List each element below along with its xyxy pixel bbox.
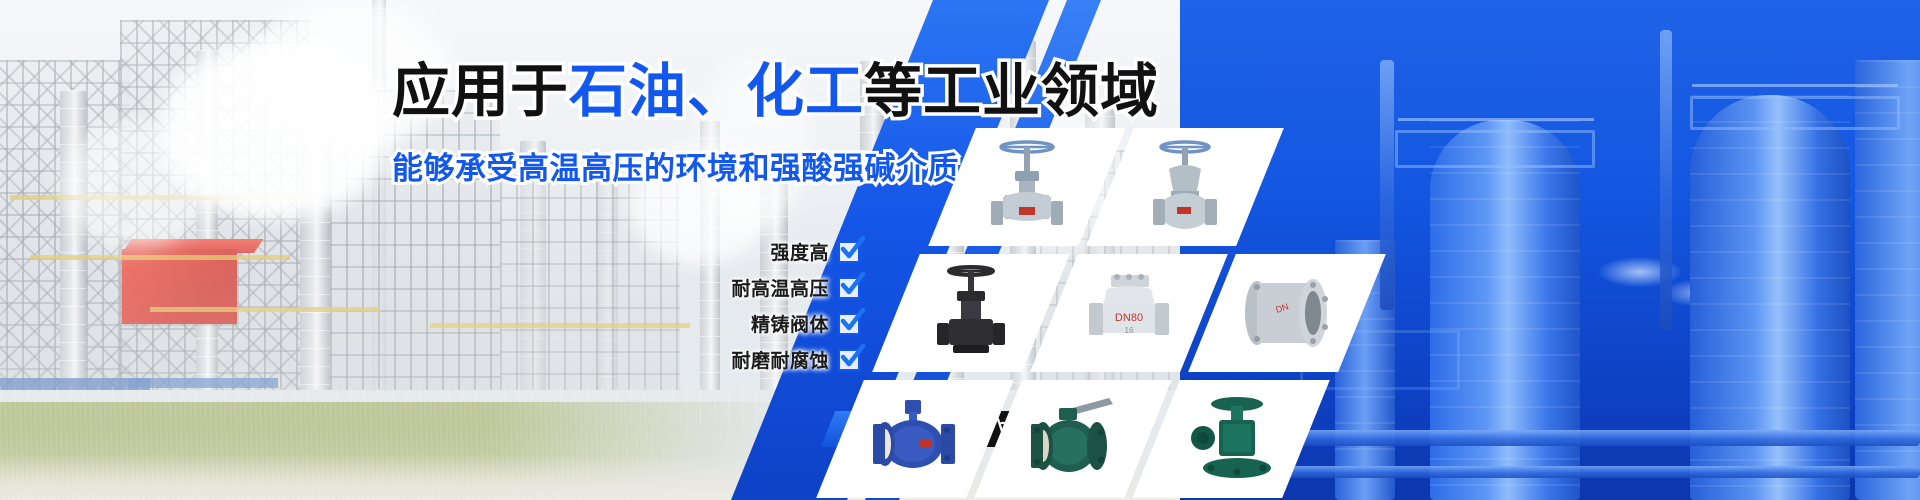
headline-segment-1: 应用于: [392, 59, 569, 124]
feature-item: 耐高温高压: [731, 274, 860, 301]
plant-walkway: [1690, 96, 1900, 130]
flanged-pipe-fitting-icon: DN: [1235, 271, 1339, 355]
promo-banner: 应用于石油、化工等工业领域 能够承受高温高压的环境和强酸强碱介质 强度高 耐高温…: [0, 0, 1920, 500]
flanged-ball-valve-green-icon: [1021, 396, 1125, 482]
feature-label: 耐高温高压: [731, 274, 829, 301]
checkbox-checked-icon: [838, 241, 860, 263]
globe-valve-flanged-icon: [1135, 135, 1235, 239]
plant-pipe: [1660, 30, 1672, 330]
feature-list: 强度高 耐高温高压 精铸阀体 耐磨耐腐蚀: [640, 238, 860, 373]
feature-item: 耐磨耐腐蚀: [731, 346, 860, 373]
forged-steel-gate-valve-icon: [923, 261, 1019, 365]
product-tile-grid: DN80 16 DN: [860, 0, 1600, 500]
gate-valve-flanged-icon: [979, 135, 1075, 239]
lined-ball-valve-blue-icon: [863, 396, 967, 482]
checkbox-checked-icon: [838, 277, 860, 299]
svg-text:16: 16: [1125, 326, 1134, 335]
lined-globe-valve-green-icon: [1181, 394, 1281, 484]
checkbox-checked-icon: [838, 349, 860, 371]
plant-railing: [1692, 84, 1898, 87]
feature-item: 精铸阀体: [751, 310, 860, 337]
feature-label: 精铸阀体: [751, 310, 829, 337]
feature-label: 耐磨耐腐蚀: [731, 346, 829, 373]
swing-check-valve-icon: DN80 16: [1077, 271, 1181, 355]
svg-text:DN80: DN80: [1115, 312, 1143, 324]
feature-label: 强度高: [770, 238, 829, 265]
feature-item: 强度高: [770, 238, 860, 265]
checkbox-checked-icon: [838, 313, 860, 335]
headline-segment-highlight: 石油、化工: [569, 59, 864, 124]
